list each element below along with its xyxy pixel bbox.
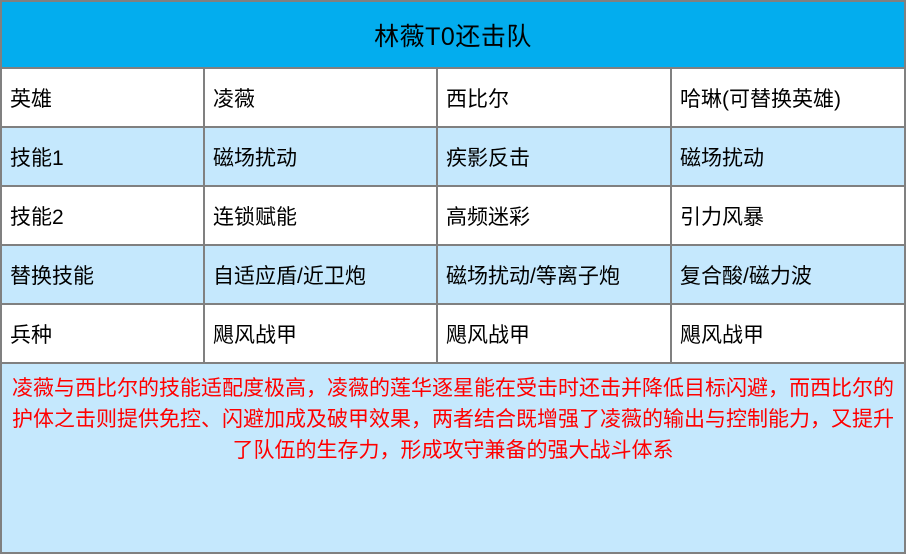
table-row: 兵种 飓风战甲 飓风战甲 飓风战甲 xyxy=(2,305,904,364)
team-table: 英雄 凌薇 西比尔 哈琳(可替换英雄) 技能1 磁场扰动 疾影反击 磁场扰动 技… xyxy=(2,69,904,364)
title-banner: 林薇T0还击队 xyxy=(2,2,904,69)
table-row: 替换技能 自适应盾/近卫炮 磁场扰动/等离子炮 复合酸/磁力波 xyxy=(2,246,904,305)
cell-unit-type-col2: 飓风战甲 xyxy=(438,305,672,362)
cell-skill2-col2: 高频迷彩 xyxy=(438,187,672,244)
row-label-alt-skill: 替换技能 xyxy=(2,246,205,303)
cell-skill1-col2: 疾影反击 xyxy=(438,128,672,185)
cell-unit-type-col3: 飓风战甲 xyxy=(672,305,904,362)
cell-alt-skill-col2: 磁场扰动/等离子炮 xyxy=(438,246,672,303)
cell-skill2-col1: 连锁赋能 xyxy=(205,187,438,244)
synergy-note: 凌薇与西比尔的技能适配度极高，凌薇的莲华逐星能在受击时还击并降低目标闪避，而西比… xyxy=(2,364,904,552)
cell-skill1-col3: 磁场扰动 xyxy=(672,128,904,185)
table-row: 技能1 磁场扰动 疾影反击 磁场扰动 xyxy=(2,128,904,187)
cell-hero-halin: 哈琳(可替换英雄) xyxy=(672,69,904,126)
cell-alt-skill-col1: 自适应盾/近卫炮 xyxy=(205,246,438,303)
cell-unit-type-col1: 飓风战甲 xyxy=(205,305,438,362)
row-label-skill2: 技能2 xyxy=(2,187,205,244)
table-row: 英雄 凌薇 西比尔 哈琳(可替换英雄) xyxy=(2,69,904,128)
team-composition-sheet: 林薇T0还击队 英雄 凌薇 西比尔 哈琳(可替换英雄) 技能1 磁场扰动 疾影反… xyxy=(0,0,906,554)
table-row: 技能2 连锁赋能 高频迷彩 引力风暴 xyxy=(2,187,904,246)
row-label-unit-type: 兵种 xyxy=(2,305,205,362)
row-label-hero: 英雄 xyxy=(2,69,205,126)
page-title: 林薇T0还击队 xyxy=(374,17,532,53)
cell-hero-lingwei: 凌薇 xyxy=(205,69,438,126)
cell-alt-skill-col3: 复合酸/磁力波 xyxy=(672,246,904,303)
cell-skill1-col1: 磁场扰动 xyxy=(205,128,438,185)
row-label-skill1: 技能1 xyxy=(2,128,205,185)
cell-hero-sibier: 西比尔 xyxy=(438,69,672,126)
cell-skill2-col3: 引力风暴 xyxy=(672,187,904,244)
